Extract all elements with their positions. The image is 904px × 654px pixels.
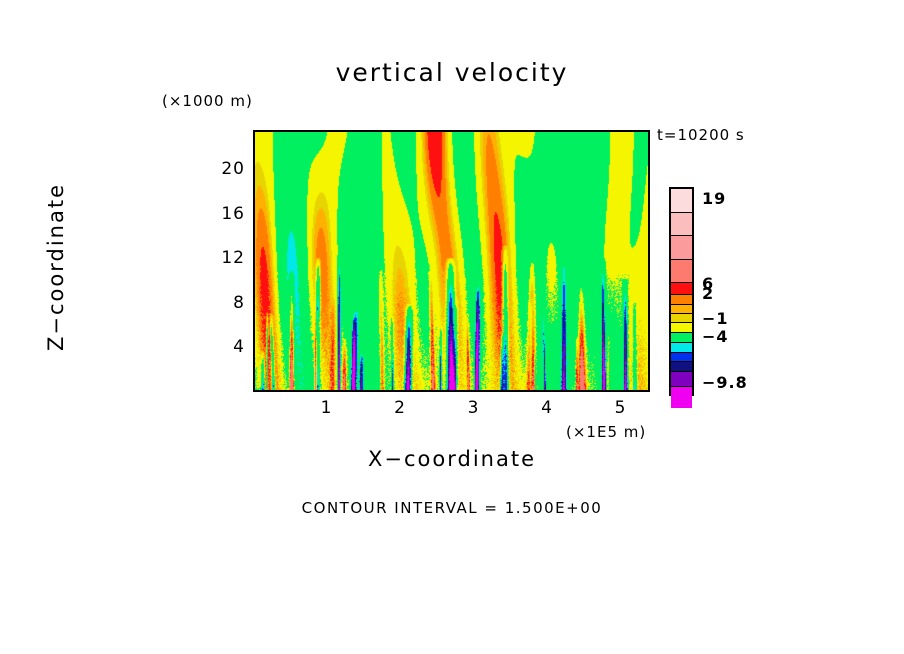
colorbar-tick-label: −4 (702, 327, 729, 346)
colorbar-tick-label: −1 (702, 309, 729, 328)
contour-field-canvas (255, 132, 648, 390)
colorbar-band (671, 259, 692, 283)
x-tick-label: 2 (380, 398, 420, 418)
x-tick-label: 4 (527, 398, 567, 418)
x-axis-title: X−coordinate (0, 447, 904, 471)
colorbar-band (671, 235, 692, 259)
y-tick-label: 16 (205, 204, 245, 224)
x-tick-label: 3 (454, 398, 494, 418)
colorbar-band (671, 189, 692, 212)
colorbar-band (671, 282, 692, 294)
colorbar-band (671, 371, 692, 386)
page-title: vertical velocity (0, 58, 904, 87)
y-tick-label: 4 (205, 337, 245, 357)
x-tick-label: 5 (601, 398, 641, 418)
colorbar-band (671, 342, 692, 351)
colorbar-band (671, 352, 692, 361)
colorbar-band (671, 361, 692, 371)
colorbar-band (671, 322, 692, 332)
y-axis-title: Z−coordinate (44, 167, 68, 367)
y-tick-label: 20 (205, 159, 245, 179)
colorbar-band (671, 294, 692, 303)
colorbar-tick-label: 19 (702, 189, 726, 208)
time-stamp-label: t=10200 s (657, 126, 745, 144)
x-axis-units: (×1E5 m) (566, 423, 646, 441)
y-tick-label: 12 (205, 248, 245, 268)
y-axis-units: (×1000 m) (162, 92, 253, 110)
colorbar-legend (669, 187, 694, 396)
colorbar-band (671, 313, 692, 322)
colorbar-tick-label: 2 (702, 284, 714, 303)
x-tick-label: 1 (307, 398, 347, 418)
colorbar-band (671, 386, 692, 408)
colorbar-band (671, 304, 692, 313)
colorbar-tick-label: −9.8 (702, 373, 748, 392)
colorbar-band (671, 212, 692, 236)
contour-interval-caption: CONTOUR INTERVAL = 1.500E+00 (0, 499, 904, 517)
contour-plot-area (253, 130, 650, 392)
colorbar-band (671, 332, 692, 342)
y-tick-label: 8 (205, 293, 245, 313)
